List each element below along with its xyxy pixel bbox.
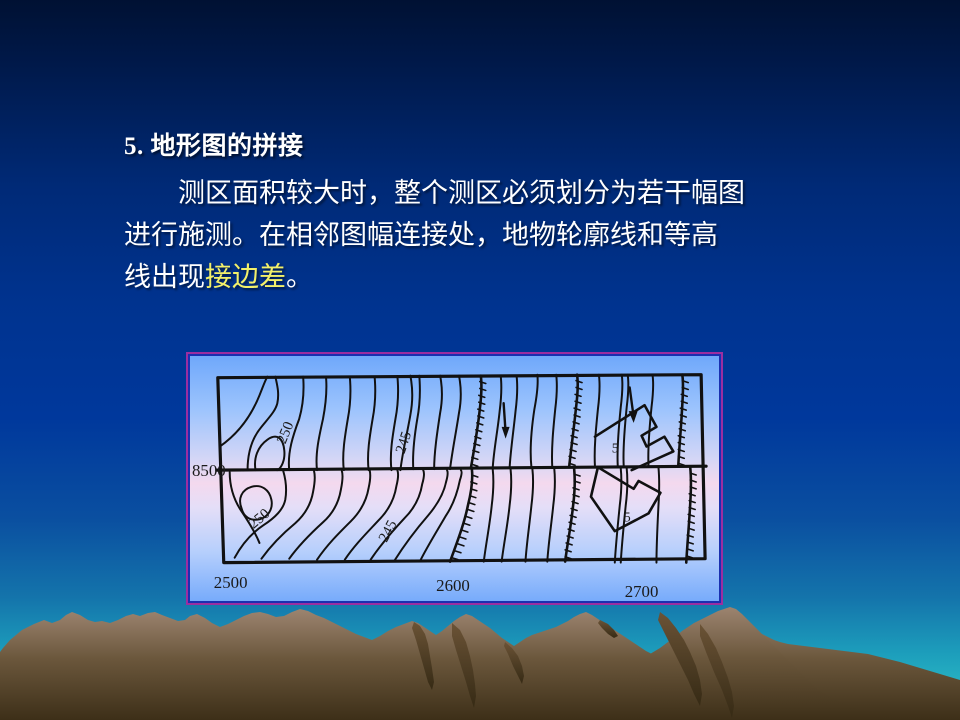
contour-line — [552, 375, 557, 467]
contour-line — [434, 376, 442, 469]
contour-line — [317, 377, 327, 470]
figure-image: 8500 2500 2600 2700 250 250 245 245 5 5 — [190, 356, 719, 601]
contour-line — [317, 470, 370, 560]
contour-line — [547, 468, 555, 561]
contour-line — [531, 375, 538, 467]
contour-label-250-upper: 250 — [274, 420, 297, 446]
contour-line — [656, 467, 659, 562]
paragraph-line-3-suffix: 。 — [286, 262, 313, 292]
contour-line — [394, 470, 447, 561]
map-label-northing: 8500 — [192, 461, 226, 480]
mountain-silhouette-graphic — [0, 590, 960, 720]
contour-line — [595, 375, 600, 467]
contour-line — [413, 376, 420, 469]
contour-line — [510, 376, 518, 468]
contour-line — [345, 470, 398, 560]
building-label-lower: 5 — [624, 509, 631, 524]
paragraph-line-3-prefix: 线出现 — [124, 262, 205, 292]
contour-label-250-lower: 250 — [246, 506, 273, 532]
scarp-line-upper-1 — [471, 376, 482, 468]
contour-line — [391, 377, 398, 470]
page-title: 5. 地形图的拼接 — [124, 126, 304, 162]
contour-line — [248, 377, 279, 470]
contour-line — [450, 376, 461, 469]
contour-line — [220, 377, 268, 447]
contour-line — [368, 377, 375, 470]
map-label-easting-left: 2500 — [214, 573, 248, 592]
paragraph-line-2: 进行施测。在相邻图幅连接处，地物轮廓线和等高 — [124, 220, 718, 250]
contour-label-245-upper: 245 — [393, 430, 415, 456]
figure-frame: 8500 2500 2600 2700 250 250 245 245 5 5 — [186, 352, 723, 605]
building-label-upper: 5 — [612, 440, 619, 455]
contour-line — [484, 469, 494, 561]
flow-direction-arrow-center — [502, 403, 510, 438]
contour-line — [493, 376, 502, 468]
map-diagram-svg: 8500 2500 2600 2700 250 250 245 245 5 5 — [190, 356, 719, 601]
contour-line — [623, 375, 628, 467]
contour-line — [343, 377, 350, 470]
map-label-easting-center: 2600 — [436, 576, 470, 595]
flow-direction-arrow-right — [629, 387, 638, 422]
highlighted-term: 接边差 — [205, 262, 286, 292]
contour-line — [289, 471, 342, 559]
contour-label-245-lower: 245 — [376, 518, 401, 545]
contour-line — [502, 469, 512, 561]
paragraph-line-1: 测区面积较大时，整个测区必须划分为若干幅图 — [178, 178, 745, 208]
contour-line — [615, 468, 622, 562]
slide-canvas: 5. 地形图的拼接 测区面积较大时，整个测区必须划分为若干幅图 进行施测。在相邻… — [0, 0, 960, 720]
scarp-line-lower-1 — [450, 469, 472, 561]
map-label-easting-right: 2700 — [625, 582, 659, 601]
contour-line — [525, 469, 533, 561]
scarp-line-upper-2 — [569, 375, 578, 467]
body-paragraph: 测区面积较大时，整个测区必须划分为若干幅图 进行施测。在相邻图幅连接处，地物轮廓… — [124, 172, 854, 298]
